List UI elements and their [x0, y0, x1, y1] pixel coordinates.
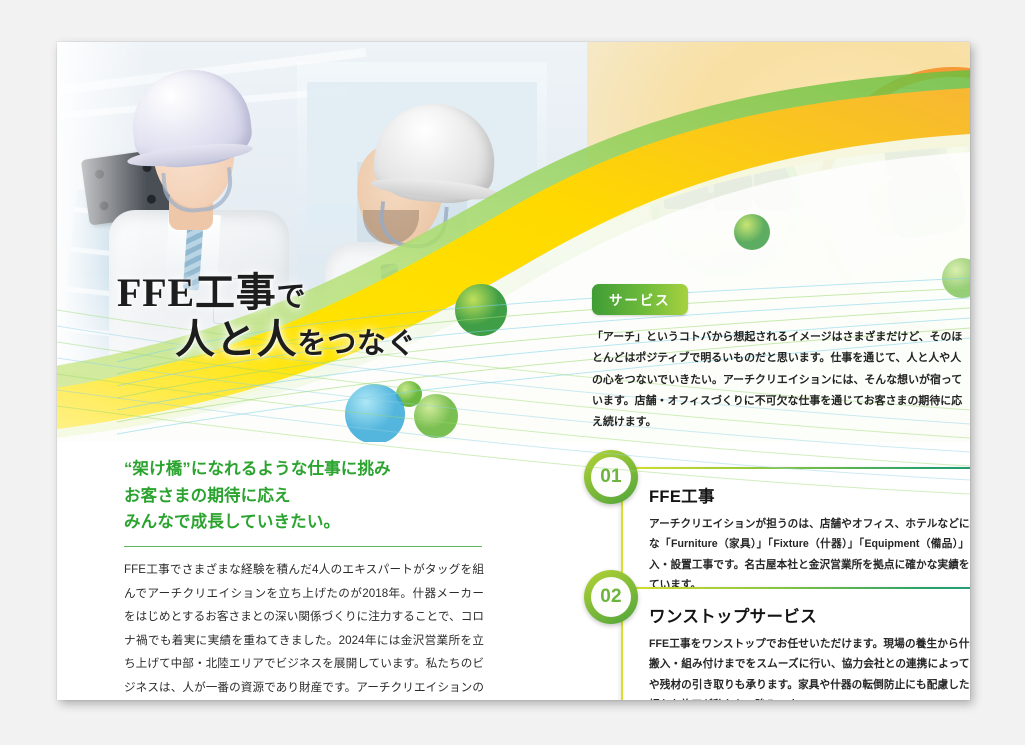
headline-line-1-suffix: で	[277, 281, 307, 313]
service-card-number: 02	[591, 577, 631, 617]
service-badge: サービス	[592, 284, 688, 315]
brochure-page: FFE工事で 人と人をつなぐ “架け橋”になれるような仕事に挑み お客さまの期待…	[57, 42, 970, 700]
service-card-body: FFE工事をワンストップでお任せいただけます。現場の養生から什器の搬入・組み付け…	[649, 634, 970, 700]
circle-meeting-photo	[658, 133, 794, 269]
service-card-number: 01	[591, 457, 631, 497]
service-card-02[interactable]: 02 ワンストップサービス FFE工事をワンストップでお任せいただけます。現場の…	[621, 587, 970, 700]
service-card-number-badge: 02	[584, 570, 638, 624]
body-copy: FFE工事でさまざまな経験を積んだ4人のエキスパートがタッグを組んでアーチクリエ…	[124, 558, 484, 700]
headline-line-2-main: 人と人	[175, 317, 297, 362]
headline-line-1: FFE工事で	[117, 270, 537, 316]
lead-text-block: “架け橋”になれるような仕事に挑み お客さまの期待に応え みんなで成長していきた…	[124, 456, 484, 700]
service-copy: 「アーチ」というコトバから想起されるイメージはさまざまだけど、そのほとんどはポジ…	[592, 327, 970, 433]
photo-work-glove	[884, 163, 968, 241]
lead-line-3: みんなで成長していきたい。	[124, 509, 484, 536]
headline-line-1-main: FFE工事	[117, 270, 277, 315]
photo-person-head	[762, 139, 784, 159]
headline-line-2: 人と人をつなぐ	[117, 316, 537, 364]
service-card-number-badge: 01	[584, 450, 638, 504]
screenshot-viewport: FFE工事で 人と人をつなぐ “架け橋”になれるような仕事に挑み お客さまの期待…	[0, 0, 1025, 745]
lead-line-1: “架け橋”になれるような仕事に挑み	[124, 456, 484, 483]
headline-line-2-suffix: をつなぐ	[297, 328, 416, 360]
hero-headline: FFE工事で 人と人をつなぐ	[117, 270, 537, 364]
lead-line-2: お客さまの期待に応え	[124, 483, 484, 510]
service-card-title: FFE工事	[649, 483, 970, 507]
divider-rule	[124, 546, 482, 547]
service-block: サービス 「アーチ」というコトバから想起されるイメージはさまざまだけど、そのほと…	[592, 284, 970, 433]
service-card-frame: 02 ワンストップサービス FFE工事をワンストップでお任せいただけます。現場の…	[621, 587, 970, 700]
service-card-title: ワンストップサービス	[649, 603, 970, 627]
photo-drill-light	[947, 143, 965, 159]
photo-person-head	[721, 153, 745, 173]
photo-person-head	[674, 143, 698, 165]
photo-person	[714, 167, 752, 211]
service-card-body: アーチクリエイションが担うのは、店舗やオフィス、ホテルなどに必要な「Furnit…	[649, 514, 970, 595]
